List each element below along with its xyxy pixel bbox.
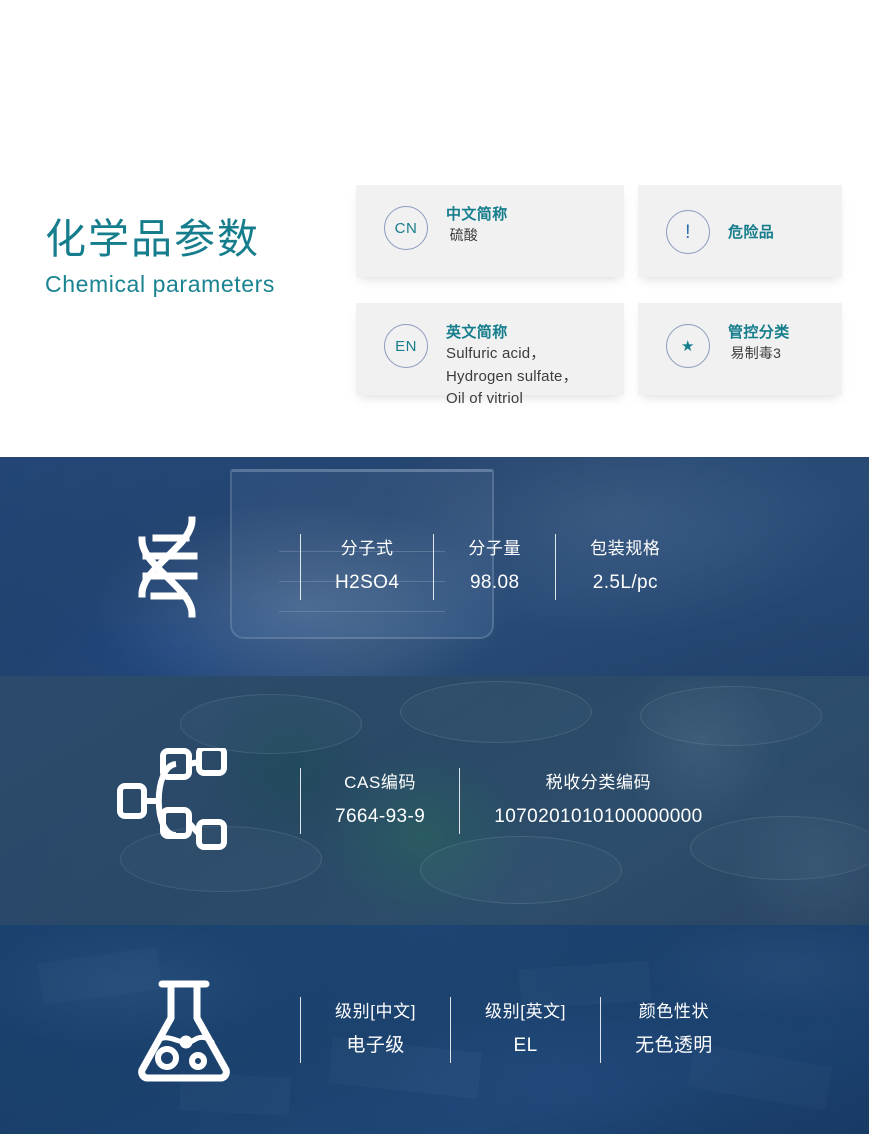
field-grade-cn: 级别[中文] 电子级 — [300, 997, 450, 1063]
spec-band-grade: 级别[中文] 电子级 级别[英文] EL 颜色性状 无色透明 — [0, 925, 869, 1134]
page-title-en: Chemical parameters — [45, 271, 345, 299]
en-badge-icon: EN — [384, 324, 428, 368]
info-card-english-name: EN 英文简称 Sulfuric acid， Hydrogen sulfate，… — [356, 303, 624, 395]
star-glyph: ★ — [681, 339, 695, 354]
field-label: 税收分类编码 — [546, 770, 652, 796]
info-card-chinese-name: CN 中文简称 硫酸 — [356, 185, 624, 277]
warning-exclamation-glyph: ! — [685, 223, 691, 242]
field-value: EL — [514, 1032, 538, 1061]
band-fields: CAS编码 7664-93-9 税收分类编码 10702010101000000… — [300, 768, 737, 834]
field-tax-class-code: 税收分类编码 1070201010100000000 — [459, 768, 736, 834]
header-section: 化学品参数 Chemical parameters CN 中文简称 硫酸 ! 危… — [0, 0, 869, 457]
info-card-control-class: ★ 管控分类 易制毒3 — [638, 303, 842, 395]
en-badge-label: EN — [395, 338, 417, 355]
page-title-cn: 化学品参数 — [45, 216, 345, 263]
spec-band-codes: CAS编码 7664-93-9 税收分类编码 10702010101000000… — [0, 676, 869, 925]
band-fields: 分子式 H2SO4 分子量 98.08 包装规格 2.5L/pc — [300, 534, 695, 600]
field-color-appearance: 颜色性状 无色透明 — [600, 997, 747, 1063]
field-value: 2.5L/pc — [593, 569, 658, 598]
info-card-hazardous: ! 危险品 — [638, 185, 842, 277]
field-molecular-weight: 分子量 98.08 — [433, 534, 555, 600]
info-card-body: 中文简称 硫酸 — [446, 204, 508, 246]
info-card-value: 易制毒3 — [728, 343, 790, 363]
field-value: 电子级 — [346, 1032, 404, 1061]
info-card-label: 危险品 — [728, 221, 774, 242]
band-fields: 级别[中文] 电子级 级别[英文] EL 颜色性状 无色透明 — [300, 997, 747, 1063]
field-label: 包装规格 — [590, 536, 660, 562]
info-card-value: 硫酸 — [446, 225, 508, 245]
info-cards-grid: CN 中文简称 硫酸 ! 危险品 EN 英文简称 Sulfuric acid， … — [356, 185, 842, 395]
info-card-body: 英文简称 Sulfuric acid， Hydrogen sulfate， Oi… — [446, 322, 578, 411]
info-card-value-line-2: Hydrogen sulfate， — [446, 366, 578, 389]
info-card-body: 管控分类 易制毒3 — [728, 322, 790, 364]
warning-exclamation-icon: ! — [666, 210, 710, 254]
dna-helix-icon — [112, 505, 228, 629]
field-molecular-formula: 分子式 H2SO4 — [300, 534, 433, 600]
field-cas-number: CAS编码 7664-93-9 — [300, 768, 459, 834]
molecule-tree-icon — [112, 741, 232, 861]
star-icon: ★ — [666, 324, 710, 368]
info-card-label: 管控分类 — [728, 323, 790, 343]
field-value: H2SO4 — [335, 569, 399, 598]
field-label: 分子式 — [341, 536, 394, 562]
field-label: CAS编码 — [344, 770, 416, 796]
field-label: 分子量 — [468, 536, 521, 562]
field-label: 级别[英文] — [485, 999, 566, 1025]
info-card-label: 中文简称 — [446, 205, 508, 225]
field-value: 98.08 — [470, 569, 520, 598]
field-label: 颜色性状 — [639, 999, 709, 1025]
info-card-value-line-1: Sulfuric acid， — [446, 343, 578, 366]
info-card-label: 英文简称 — [446, 323, 578, 343]
field-value: 无色透明 — [635, 1032, 713, 1061]
field-grade-en: 级别[英文] EL — [450, 997, 600, 1063]
cn-badge-label: CN — [395, 220, 418, 237]
spec-band-molecular: 分子式 H2SO4 分子量 98.08 包装规格 2.5L/pc — [0, 457, 869, 676]
field-label: 级别[中文] — [335, 999, 416, 1025]
flask-icon — [130, 977, 238, 1083]
field-value: 7664-93-9 — [335, 803, 425, 832]
info-card-value-line-3: Oil of vitriol — [446, 388, 578, 411]
field-value: 1070201010100000000 — [494, 803, 702, 832]
page-title-block: 化学品参数 Chemical parameters — [45, 216, 345, 299]
field-package-spec: 包装规格 2.5L/pc — [555, 534, 694, 600]
cn-badge-icon: CN — [384, 206, 428, 250]
